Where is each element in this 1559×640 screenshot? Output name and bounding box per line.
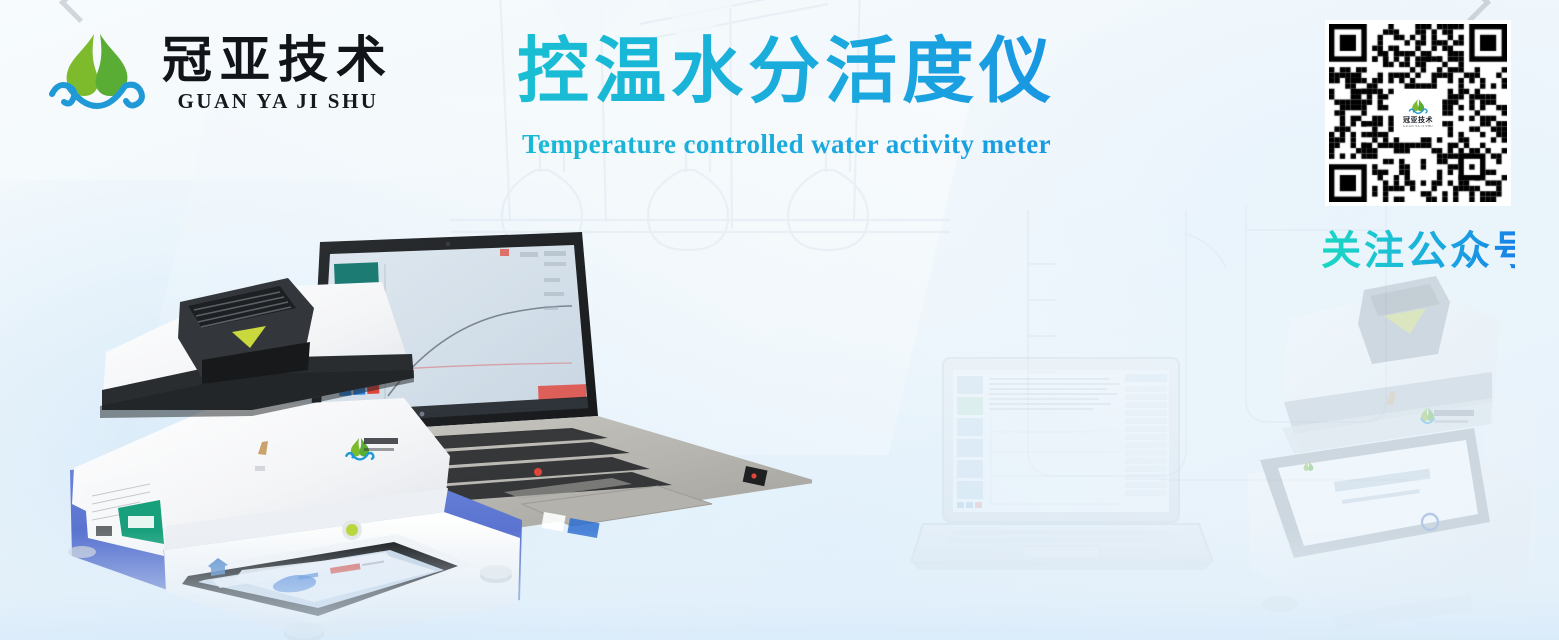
ghost-water-activity-analyzer bbox=[1238, 268, 1559, 640]
floor-reflection bbox=[0, 530, 1559, 640]
logo-chinese-name: 冠亚技术 bbox=[162, 34, 394, 87]
guanya-leaf-water-logo-icon bbox=[44, 28, 148, 120]
background-wash-bottom bbox=[420, 340, 1240, 640]
background-panel bbox=[128, 95, 971, 455]
qr-badge-leaf-icon bbox=[1407, 98, 1429, 116]
previous-slide-arrow[interactable] bbox=[56, 0, 102, 24]
qr-caption: 关注公众号 bbox=[1321, 218, 1515, 276]
lab-glassware-ghost-icon bbox=[430, 0, 990, 300]
qr-badge-pinyin: GUAN YA JI SHU bbox=[1403, 125, 1433, 128]
qr-center-logo: 冠亚技术 GUAN YA JI SHU bbox=[1394, 89, 1442, 137]
qr-panel: 冠亚技术 GUAN YA JI SHU 关注公众号 bbox=[1321, 20, 1515, 276]
qr-badge-chinese: 冠亚技术 bbox=[1403, 117, 1433, 124]
hero-product-photo bbox=[52, 220, 812, 640]
product-banner: 冠亚技术 GUAN YA JI SHU 控温水分活度仪 Temperature … bbox=[0, 0, 1559, 640]
background-wash-left bbox=[0, 180, 780, 640]
ghost-laptop-photo bbox=[905, 348, 1215, 588]
water-activity-meter bbox=[68, 278, 522, 640]
logo-pinyin: GUAN YA JI SHU bbox=[178, 89, 379, 114]
chevron-left-icon bbox=[58, 0, 99, 23]
thinkpad-laptop bbox=[304, 232, 812, 538]
brand-logo[interactable]: 冠亚技术 GUAN YA JI SHU bbox=[44, 28, 394, 120]
qr-card[interactable]: 冠亚技术 GUAN YA JI SHU bbox=[1325, 20, 1511, 206]
